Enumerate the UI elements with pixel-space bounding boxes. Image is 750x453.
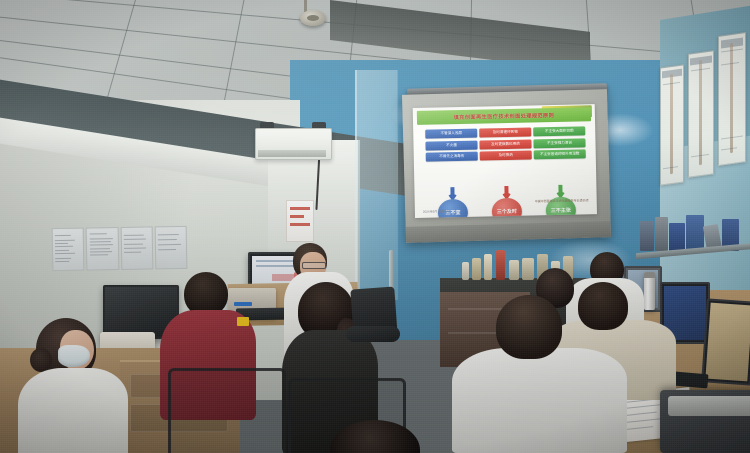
notice-sheet — [86, 227, 119, 271]
notice-sheet — [120, 226, 153, 270]
monitor-display — [705, 303, 750, 382]
slide-title-text: 填充创面再生医疗技术创面处理规范原则 — [454, 112, 555, 121]
bottle — [462, 262, 469, 280]
monitor-right-tan[interactable] — [701, 298, 750, 385]
flask-cap — [644, 272, 655, 278]
slide-column-blue: 不管深人浅层 不火菌 不得先之消毒伤 三不宜 — [425, 129, 478, 165]
printer-lid — [668, 396, 750, 416]
door-poster — [286, 200, 314, 242]
glasses — [302, 262, 326, 269]
presentation-slide: 再生医疗技术 填充创面再生医疗技术创面处理规范原则 不管深人浅层 不火菌 不得先… — [413, 104, 597, 218]
bottle — [472, 258, 481, 280]
slide-footer-right: 中国中西医结合学会创面修复专业委员会 — [535, 198, 589, 203]
notice-sheet — [52, 228, 85, 272]
tower-led — [234, 302, 252, 306]
slide-banner: 不管深人浅层 — [425, 129, 477, 139]
slide-banner: 不主张强力清创 — [533, 138, 585, 148]
anatomical-chart-poster — [718, 32, 746, 166]
notice-sheet — [154, 226, 187, 270]
office-chair-seat[interactable] — [346, 326, 400, 342]
poster-figure — [670, 74, 672, 174]
binder — [640, 221, 654, 251]
slide-banner: 不主张普通药物外用湿敷 — [534, 149, 586, 159]
slide-column-green: 不主张大面积切痂 不主张强力清创 不主张普通药物外用湿敷 三不主张 — [533, 126, 586, 162]
hair-bun — [30, 348, 52, 372]
slide-banner: 及时换药 — [480, 150, 532, 160]
posted-notice-sheets — [52, 226, 188, 271]
slide-banner: 不火菌 — [425, 140, 477, 150]
binder — [669, 223, 685, 251]
man-white-shirt-foreground — [496, 295, 562, 359]
slide-title-banner: 填充创面再生医疗技术创面处理规范原则 — [417, 107, 591, 125]
thermos-red — [496, 250, 505, 280]
slide-footer-left: 2024年6月 创面论坛 — [423, 209, 450, 214]
slide-banner: 及时更换敷料用药 — [479, 139, 531, 149]
jar — [522, 258, 534, 280]
binder — [686, 215, 704, 251]
smoke-detector-icon — [300, 10, 326, 26]
anatomical-chart-poster — [660, 64, 684, 185]
slide-bubble: 三个及时 — [492, 198, 523, 218]
face-mask — [58, 345, 90, 367]
photo-scene: 再生医疗技术 填充创面再生医疗技术创面处理规范原则 不管深人浅层 不火菌 不得先… — [0, 0, 750, 453]
projection-screen: 再生医疗技术 填充创面再生医疗技术创面处理规范原则 不管深人浅层 不火菌 不得先… — [402, 89, 611, 243]
man-khaki-shirt — [578, 282, 628, 330]
bottle — [509, 260, 519, 280]
slide-banner: 不主张大面积切痂 — [533, 126, 585, 136]
air-conditioner-vent — [258, 150, 326, 157]
slide-banner: 及时清理坏死物 — [479, 127, 531, 137]
vacuum-flask — [644, 272, 655, 310]
anatomical-chart-poster — [688, 50, 714, 178]
slide-banner: 不得先之消毒伤 — [426, 152, 478, 162]
foreground-printer[interactable] — [660, 390, 750, 453]
office-chair[interactable] — [168, 368, 286, 453]
slide-column-red: 及时清理坏死物 及时更换敷料用药 及时换药 三个及时 — [479, 127, 532, 163]
poster-figure — [699, 60, 702, 165]
binder — [655, 217, 668, 251]
woman-white-coat-body — [18, 368, 128, 453]
badge — [237, 317, 249, 326]
bottle — [484, 254, 492, 280]
man-white-shirt-foreground-body — [452, 348, 627, 453]
